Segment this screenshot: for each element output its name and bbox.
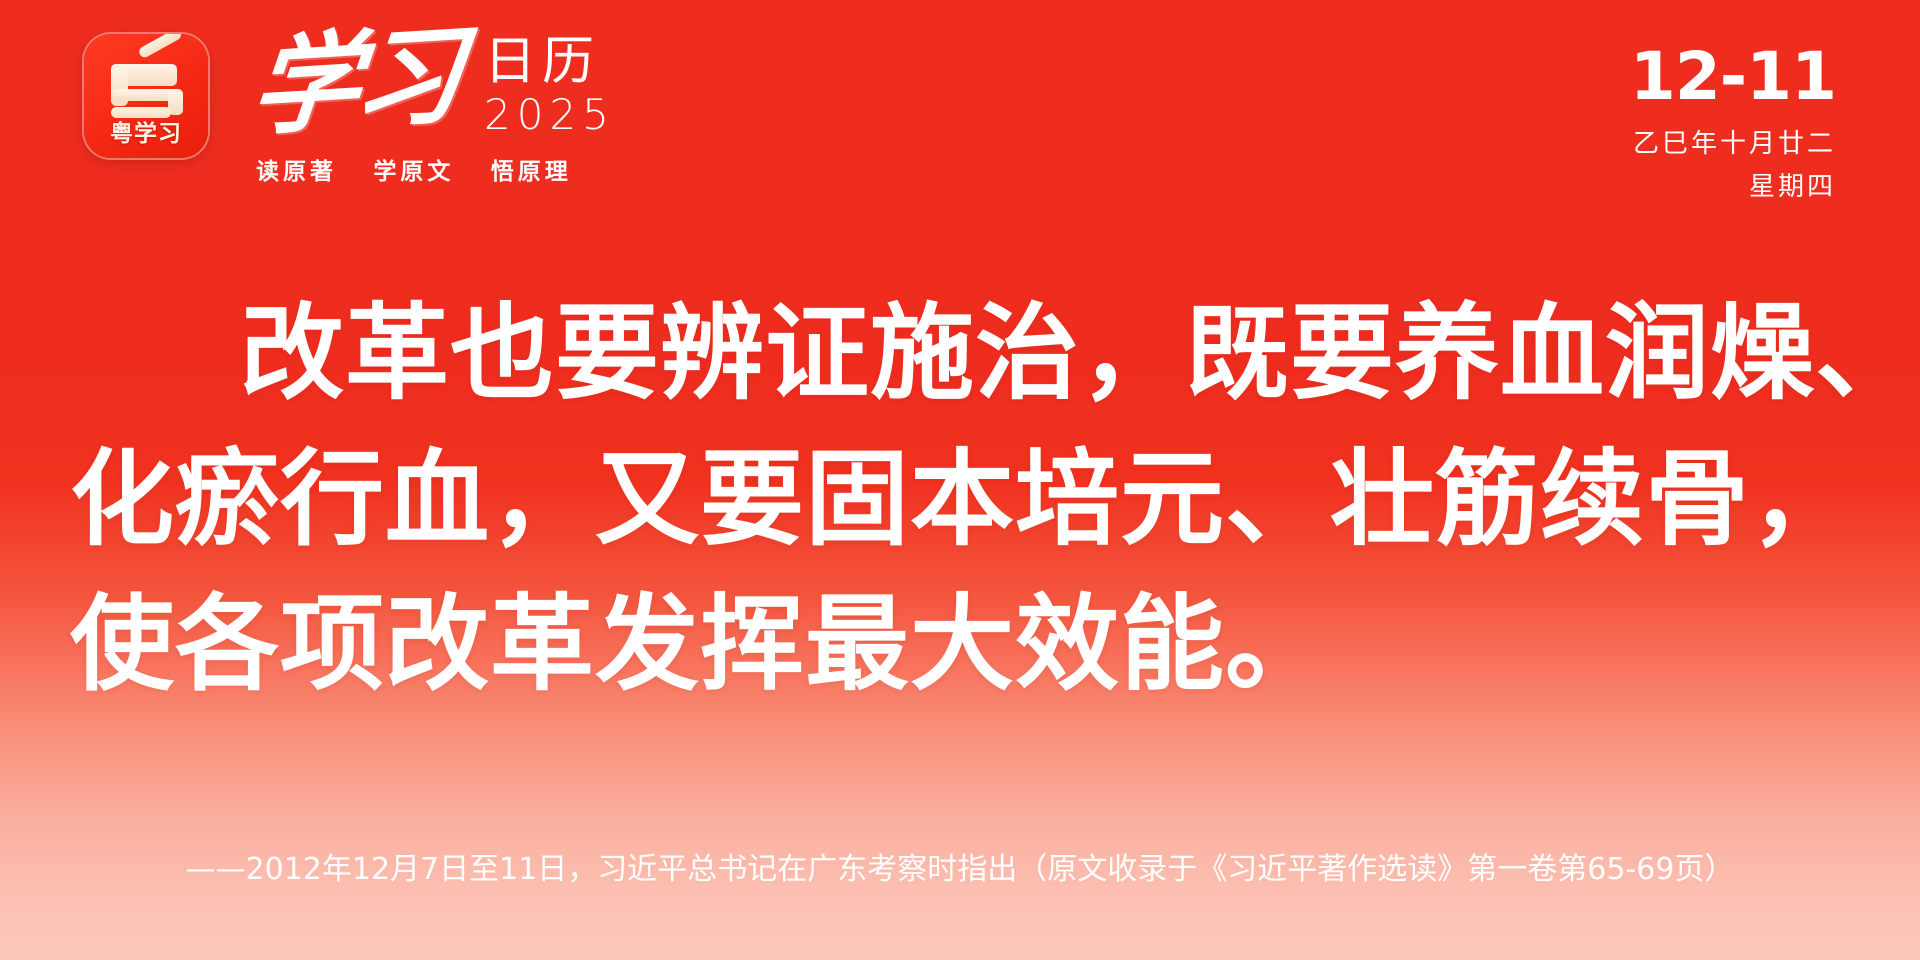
quote-line: 使各项改革发挥最大效能。 <box>70 571 1850 717</box>
quote-line: 化瘀行血，又要固本培元、壮筋续骨， <box>70 426 1850 572</box>
app-icon-label: 粤学习 <box>84 114 208 148</box>
title-side-group: 日历 2025 <box>484 30 615 136</box>
open-book-glyph-stroke-diagonal <box>137 34 183 59</box>
slogan-item-3: 悟原理 <box>491 158 572 184</box>
poster-header: 粤学习 学习 日历 2025 读原著 学原文 悟原理 <box>0 0 1920 230</box>
poster-canvas: 粤学习 学习 日历 2025 读原著 学原文 悟原理 <box>0 0 1920 960</box>
slogan-item-2: 学原文 <box>373 158 454 184</box>
quote-body: 改革也要辨证施治，既要养血润燥、 化瘀行血，又要固本培元、壮筋续骨， 使各项改革… <box>70 280 1850 717</box>
date-lunar: 乙巳年十月廿二 <box>1630 128 1836 159</box>
slogan-row: 读原著 学原文 悟原理 <box>256 152 615 186</box>
brand-block: 粤学习 学习 日历 2025 读原著 学原文 悟原理 <box>84 28 615 186</box>
date-block: 12-11 乙巳年十月廿二 星期四 <box>1630 44 1836 202</box>
quote-source-attribution: ——2012年12月7日至11日，习近平总书记在广东考察时指出（原文收录于《习近… <box>0 844 1920 888</box>
year-label: 2025 <box>484 94 615 136</box>
quote-line: 改革也要辨证施治，既要养血润燥、 <box>70 280 1850 426</box>
date-weekday: 星期四 <box>1630 171 1836 202</box>
app-icon-container[interactable]: 粤学习 <box>84 34 208 158</box>
title-block: 学习 日历 2025 读原著 学原文 悟原理 <box>252 28 615 186</box>
calendar-word: 日历 <box>484 36 615 88</box>
calligraphy-title: 学习 <box>246 24 462 142</box>
title-row: 学习 日历 2025 <box>252 30 615 136</box>
slogan-item-1: 读原著 <box>256 158 337 184</box>
date-gregorian: 12-11 <box>1630 44 1836 110</box>
app-icon[interactable]: 粤学习 <box>84 34 208 158</box>
